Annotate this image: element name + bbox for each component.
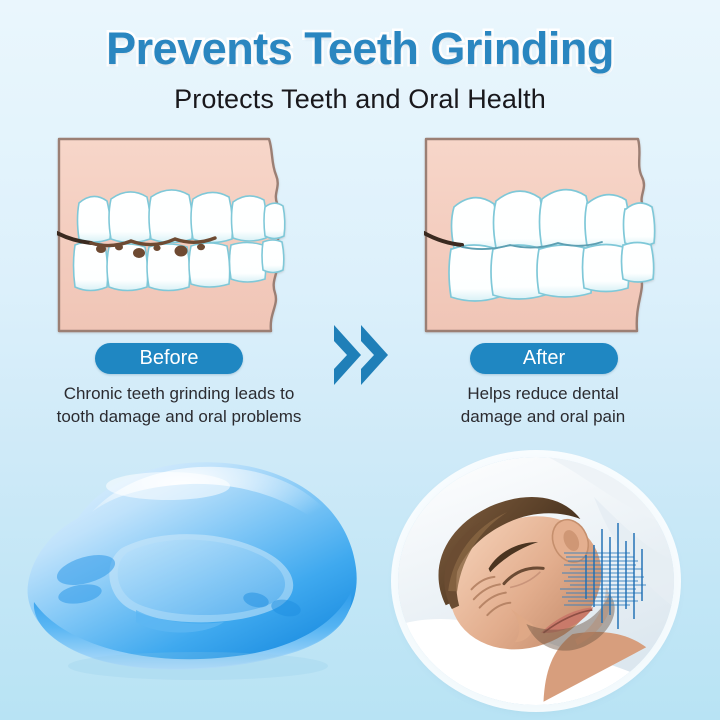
transition-arrows	[330, 322, 400, 388]
caption-before-line1: Chronic teeth grinding leads to	[14, 382, 344, 405]
chevron-right-icon-2	[357, 322, 391, 388]
before-after-comparison	[0, 137, 720, 337]
caption-after-line2: damage and oral pain	[378, 405, 708, 428]
caption-after: Helps reduce dental damage and oral pain	[378, 382, 708, 428]
after-illustration	[424, 137, 670, 333]
page-title: Prevents Teeth Grinding	[0, 0, 720, 75]
caption-after-line1: Helps reduce dental	[378, 382, 708, 405]
header: Prevents Teeth Grinding Protects Teeth a…	[0, 0, 720, 115]
page-subtitle: Protects Teeth and Oral Health	[0, 75, 720, 115]
product-image	[18, 452, 363, 698]
badge-before: Before	[95, 343, 243, 374]
badge-after: After	[470, 343, 618, 374]
caption-before-line2: tooth damage and oral problems	[14, 405, 344, 428]
lifestyle-photo	[398, 457, 674, 705]
product-infographic: Prevents Teeth Grinding Protects Teeth a…	[0, 0, 720, 720]
caption-before: Chronic teeth grinding leads to tooth da…	[14, 382, 344, 428]
before-illustration	[57, 137, 303, 333]
